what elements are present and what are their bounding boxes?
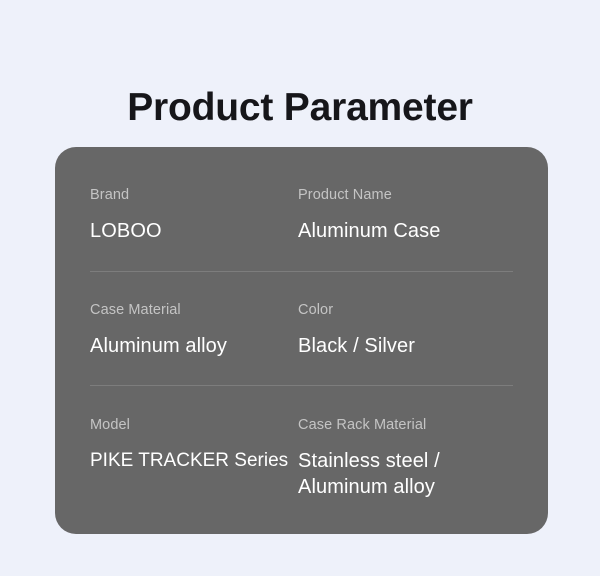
spec-row: Model PIKE TRACKER Series Case Rack Mate… (90, 416, 513, 500)
spec-cell-case-material: Case Material Aluminum alloy (90, 301, 298, 359)
spec-cell-case-rack-material: Case Rack Material Stainless steel / Alu… (298, 416, 513, 500)
spec-label: Color (298, 301, 513, 319)
spec-value: LOBOO (90, 218, 292, 244)
spec-label: Case Rack Material (298, 416, 513, 434)
spec-divider (90, 271, 513, 272)
spec-value: Stainless steel / Aluminum alloy (298, 448, 513, 500)
specification-rows: Brand LOBOO Product Name Aluminum Case C… (90, 147, 513, 534)
spec-cell-model: Model PIKE TRACKER Series (90, 416, 298, 474)
spec-label: Case Material (90, 301, 292, 319)
spec-cell-product-name: Product Name Aluminum Case (298, 186, 513, 244)
spec-row: Brand LOBOO Product Name Aluminum Case (90, 186, 513, 244)
spec-value: Aluminum alloy (90, 333, 292, 359)
spec-cell-brand: Brand LOBOO (90, 186, 298, 244)
spec-label: Brand (90, 186, 292, 204)
spec-value: PIKE TRACKER Series (90, 448, 292, 474)
spec-cell-color: Color Black / Silver (298, 301, 513, 359)
spec-divider (90, 385, 513, 386)
spec-row: Case Material Aluminum alloy Color Black… (90, 301, 513, 359)
page-title: Product Parameter (0, 84, 600, 132)
product-parameter-page: Product Parameter Brand LOBOO Product Na… (0, 0, 600, 576)
spec-value: Black / Silver (298, 333, 513, 359)
spec-label: Model (90, 416, 292, 434)
spec-label: Product Name (298, 186, 513, 204)
spec-value: Aluminum Case (298, 218, 513, 244)
specification-card: Brand LOBOO Product Name Aluminum Case C… (55, 147, 548, 534)
